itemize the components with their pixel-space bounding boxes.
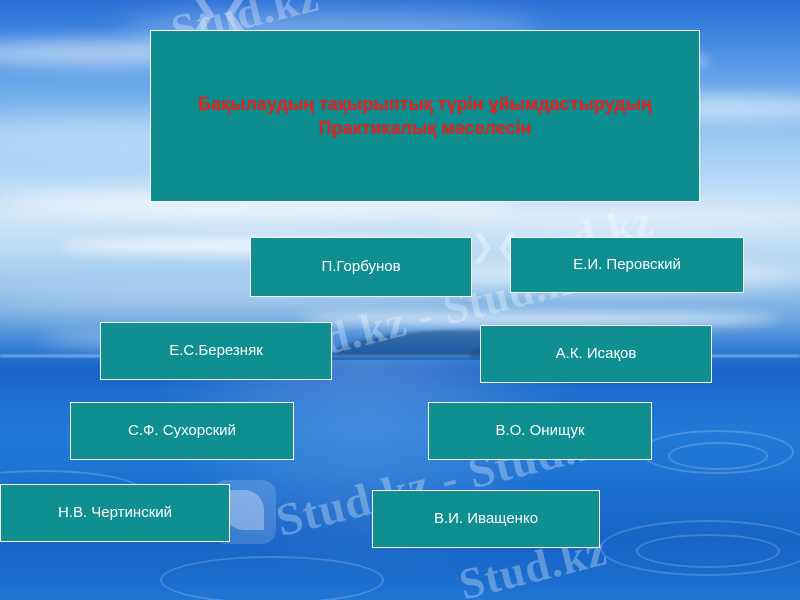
water-ripple [668,442,768,470]
name-label: А.К. Исақов [556,345,637,364]
water-glare [150,360,580,590]
cloud-streak [300,312,780,326]
water-ripple [160,556,384,600]
name-label: Е.И. Перовский [573,256,681,275]
name-box-onishchuk: В.О. Онищук [428,402,652,460]
title-box: Бақылаудың тақырыптық түрін ұйымдастыруд… [150,30,700,202]
name-box-isakov: А.К. Исақов [480,325,712,383]
cloud-streak [430,206,800,234]
page-title: Бақылаудың тақырыптық түрін ұйымдастыруд… [198,92,652,141]
name-label: С.Ф. Сухорский [128,422,236,441]
name-label: В.О. Онищук [495,422,584,441]
name-box-chertinskiy: Н.В. Чертинский [0,484,230,542]
name-box-gorbunov: П.Горбунов [250,237,472,297]
name-label: Н.В. Чертинский [58,504,172,523]
water-ripple [640,430,794,474]
slide-canvas: Stud.kz Stud.kz - Stud.kz Stud.kz Stud.k… [0,0,800,600]
bird-icon: ❯❮ [186,0,253,32]
name-box-perovskiy: Е.И. Перовский [510,237,744,293]
water-ripple [600,520,800,576]
name-label: П.Горбунов [321,258,400,277]
name-box-sukhorskiy: С.Ф. Сухорский [70,402,294,460]
name-label: Е.С.Березняк [169,342,263,361]
name-box-bereznyak: Е.С.Березняк [100,322,332,380]
name-box-ivashchenko: В.И. Иващенко [372,490,600,548]
water-ripple [636,534,780,568]
name-label: В.И. Иващенко [434,510,538,529]
